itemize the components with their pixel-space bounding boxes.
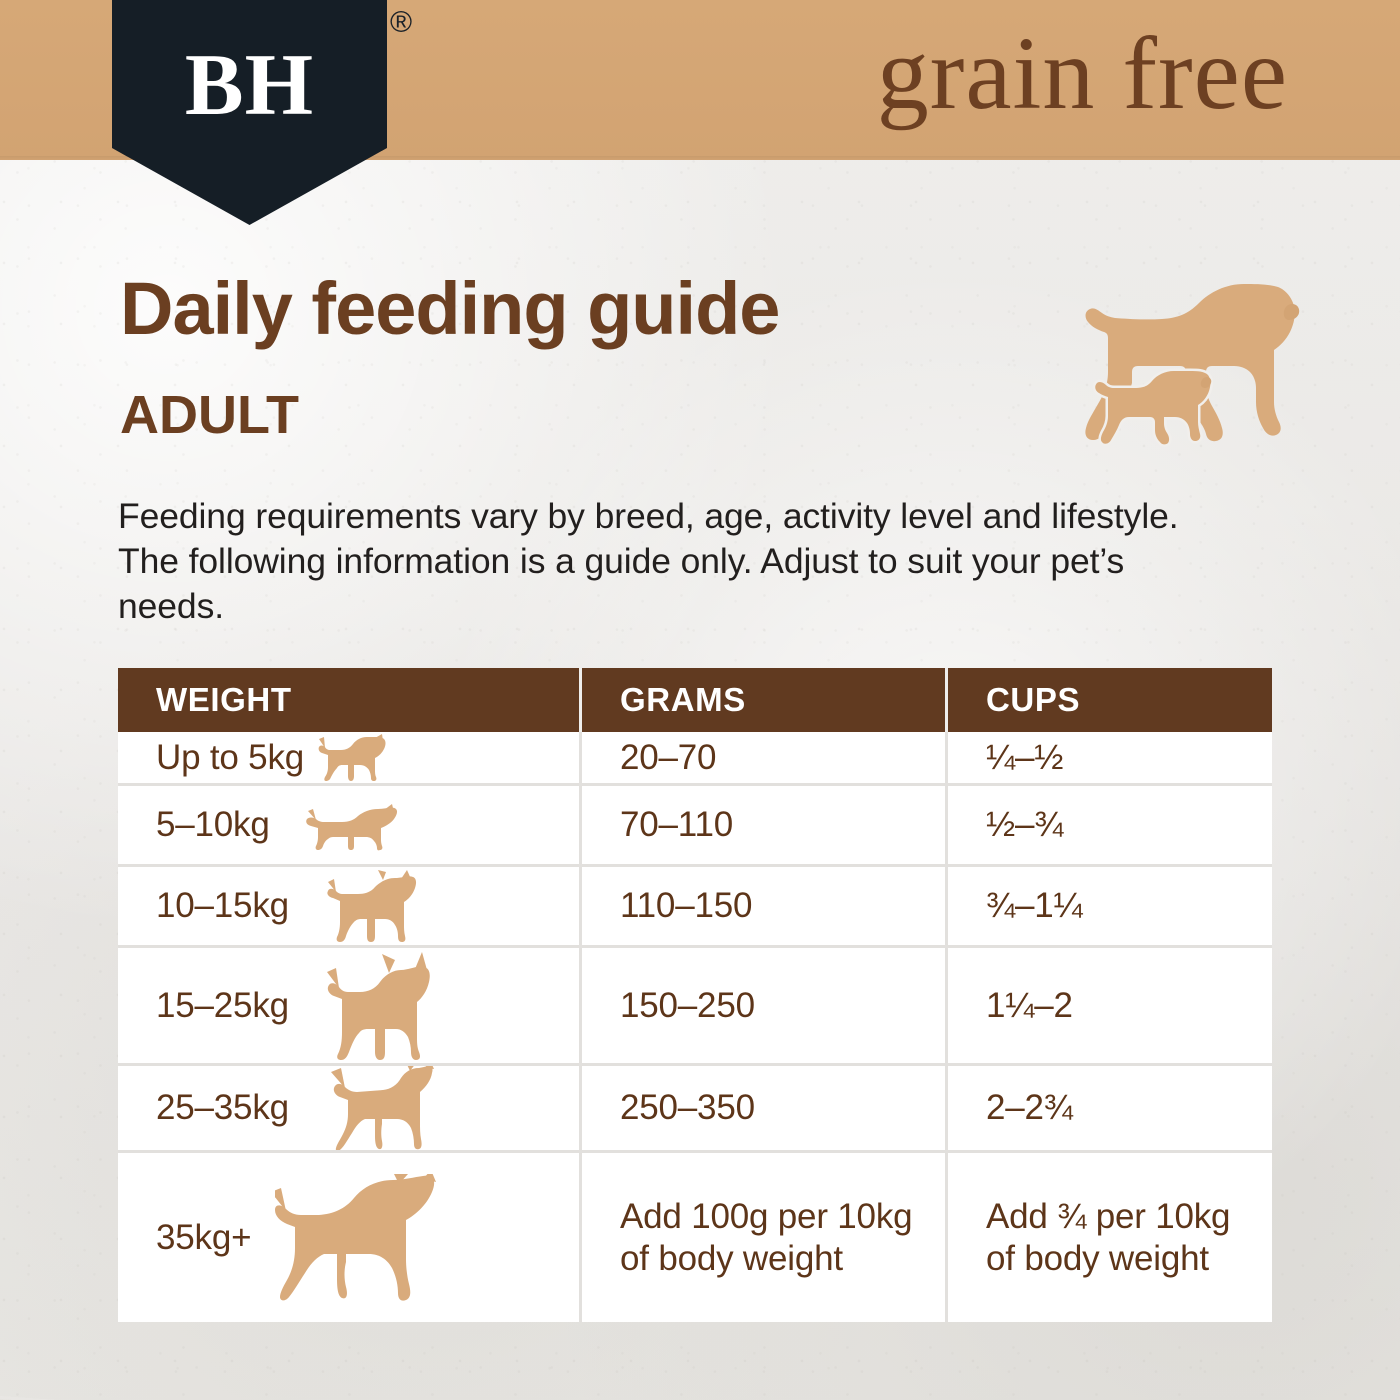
column-header-grams: GRAMS: [582, 668, 948, 732]
grams-value: 150–250: [620, 985, 755, 1027]
adult-dog-and-puppy-silhouette-icon: [1058, 276, 1308, 451]
cell-grams: 150–250: [582, 948, 948, 1063]
cell-cups: 2–2¾: [948, 1066, 1272, 1150]
terrier-silhouette-icon: [289, 867, 579, 945]
dachshund-silhouette-icon: [270, 786, 579, 864]
cell-cups: ¾–1¼: [948, 867, 1272, 945]
table-row: 35kg+ Add 100g per 10kg of body weight: [118, 1153, 1272, 1322]
column-header-weight: WEIGHT: [118, 668, 582, 732]
weight-label: 15–25kg: [156, 986, 289, 1026]
cups-value: Add ¾ per 10kg of body weight: [986, 1196, 1230, 1280]
cups-value: 2–2¾: [986, 1087, 1073, 1129]
cups-value: 1¼–2: [986, 985, 1073, 1027]
brand-logo-text: BH: [112, 42, 387, 130]
table-row: 25–35kg 250–350 2–2¾: [118, 1066, 1272, 1153]
cups-value: ½–¾: [986, 804, 1063, 846]
table-row: Up to 5kg 20–70 ¼–½: [118, 732, 1272, 786]
table-row: 5–10kg 70–110 ½–¾: [118, 786, 1272, 867]
cell-cups: 1¼–2: [948, 948, 1272, 1063]
feeding-table: WEIGHT GRAMS CUPS Up to 5kg: [118, 668, 1272, 1322]
column-header-cups: CUPS: [948, 668, 1272, 732]
page-title: Daily feeding guide: [120, 272, 779, 346]
grams-value: 110–150: [620, 885, 752, 927]
table-row: 10–15kg 110–150 ¾–1¼: [118, 867, 1272, 948]
grams-value: 20–70: [620, 737, 716, 779]
weight-label: 5–10kg: [156, 805, 270, 845]
weight-label: 35kg+: [156, 1218, 251, 1258]
grams-value: Add 100g per 10kg of body weight: [620, 1196, 912, 1280]
weight-label: Up to 5kg: [156, 738, 304, 778]
cell-grams: 70–110: [582, 786, 948, 864]
product-line-label: grain free: [877, 14, 1288, 134]
cell-grams: 250–350: [582, 1066, 948, 1150]
grams-value: 70–110: [620, 804, 733, 846]
cell-grams: 20–70: [582, 732, 948, 783]
grams-value: 250–350: [620, 1087, 755, 1129]
cell-cups: ½–¾: [948, 786, 1272, 864]
weight-label: 25–35kg: [156, 1088, 289, 1128]
cups-value: ¾–1¼: [986, 885, 1083, 927]
cell-weight: 25–35kg: [118, 1066, 582, 1150]
cell-weight: 35kg+: [118, 1153, 582, 1322]
medium-dog-silhouette-icon: [289, 948, 579, 1063]
feeding-guide-page: grain free ® BH Daily feeding guide ADUL…: [0, 0, 1400, 1400]
page-subtitle-lifestage: ADULT: [120, 388, 299, 442]
cups-value: ¼–½: [986, 737, 1063, 779]
small-dog-silhouette-icon: [304, 732, 579, 783]
cell-grams: 110–150: [582, 867, 948, 945]
table-row: 15–25kg 150–250 1¼–2: [118, 948, 1272, 1066]
table-header-row: WEIGHT GRAMS CUPS: [118, 668, 1272, 732]
brand-logo-shield: BH: [112, 0, 387, 225]
weight-label: 10–15kg: [156, 886, 289, 926]
cell-weight: Up to 5kg: [118, 732, 582, 783]
extra-large-dog-silhouette-icon: [251, 1153, 579, 1322]
cell-weight: 5–10kg: [118, 786, 582, 864]
cell-cups: ¼–½: [948, 732, 1272, 783]
registered-trademark-icon: ®: [390, 8, 412, 38]
cell-weight: 15–25kg: [118, 948, 582, 1063]
cell-weight: 10–15kg: [118, 867, 582, 945]
intro-paragraph: Feeding requirements vary by breed, age,…: [118, 494, 1188, 629]
cell-cups: Add ¾ per 10kg of body weight: [948, 1153, 1272, 1322]
large-dog-silhouette-icon: [289, 1066, 579, 1150]
cell-grams: Add 100g per 10kg of body weight: [582, 1153, 948, 1322]
